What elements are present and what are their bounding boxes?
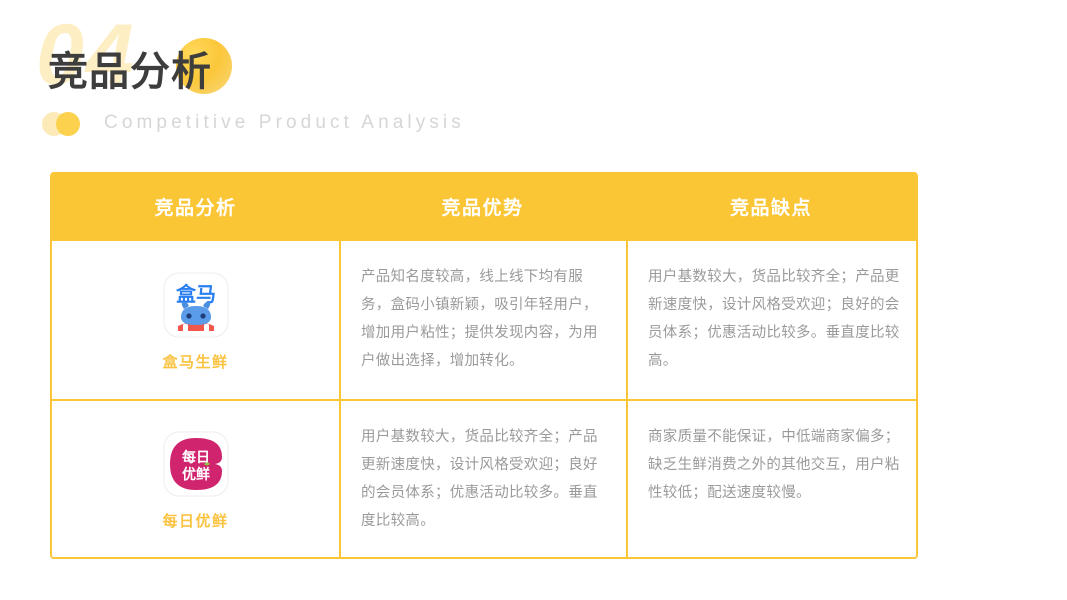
cell-advantages: 产品知名度较高，线上线下均有服务，盒码小镇新颖，吸引年轻用户，增加用户粘性；提供…	[339, 241, 626, 399]
dot-solid-icon	[56, 112, 80, 136]
cell-advantages: 用户基数较大，货品比较齐全；产品更新速度快，设计风格受欢迎；良好的会员体系；优惠…	[339, 401, 626, 557]
page-subtitle: Competitive Product Analysis	[104, 111, 465, 135]
cell-disadvantages: 商家质量不能保证，中低端商家偏多；缺乏生鲜消费之外的其他交互，用户粘性较低；配送…	[626, 401, 916, 557]
page-title: 竞品分析	[48, 52, 212, 92]
table-row: 每日 优鲜 每日优鲜 用户基数较大，货品比较齐全；产品更新速度快，设计风格受欢迎…	[52, 399, 916, 557]
svg-text:优鲜: 优鲜	[182, 466, 210, 482]
brand-cell-missfresh: 每日 优鲜 每日优鲜	[52, 401, 339, 557]
column-header-advantages: 竞品优势	[339, 174, 626, 239]
competitive-analysis-table: 竞品分析 竞品优势 竞品缺点 盒马	[50, 172, 918, 559]
hema-app-icon: 盒马	[162, 271, 230, 339]
decorative-dots-icon	[42, 112, 94, 136]
table-row: 盒马 盒马生鲜 产品知名度较高，线上线下均有服务，盒码小镇新颖，吸引年轻用户，增	[52, 239, 916, 399]
svg-text:盒马: 盒马	[175, 282, 216, 306]
table-header-row: 竞品分析 竞品优势 竞品缺点	[52, 174, 916, 239]
missfresh-app-icon: 每日 优鲜	[162, 430, 230, 498]
slide-header: 04 竞品分析 Competitive Product Analysis	[0, 0, 1067, 165]
svg-text:每日: 每日	[182, 449, 210, 465]
brand-label: 盒马生鲜	[162, 351, 228, 372]
brand-label: 每日优鲜	[162, 510, 228, 531]
column-header-disadvantages: 竞品缺点	[626, 174, 916, 239]
column-header-analysis: 竞品分析	[52, 174, 339, 239]
cell-disadvantages: 用户基数较大，货品比较齐全；产品更新速度快，设计风格受欢迎；良好的会员体系；优惠…	[626, 241, 916, 399]
brand-cell-hema: 盒马 盒马生鲜	[52, 241, 339, 399]
